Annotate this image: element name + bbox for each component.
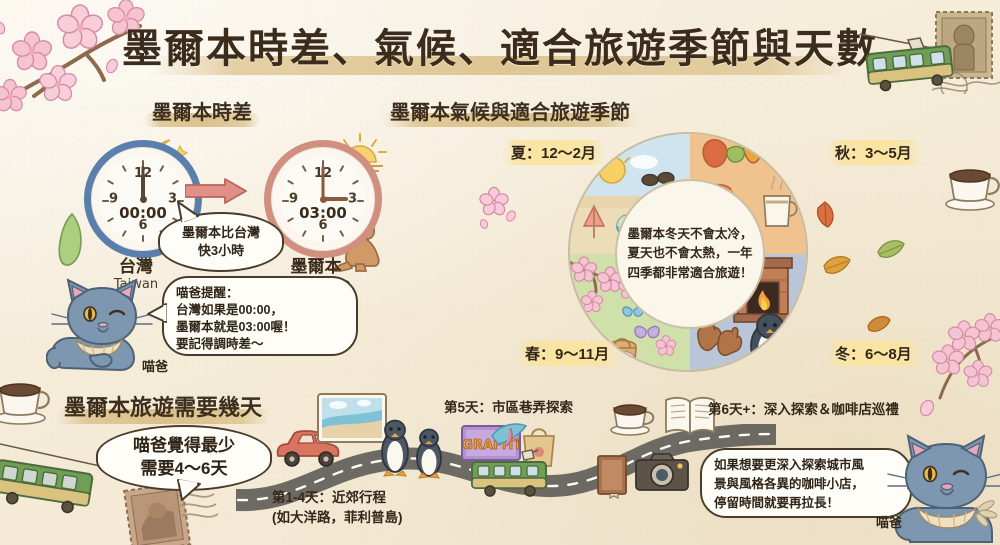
cat-reminder-line-4: 要記得調時差～ [176, 336, 344, 353]
penguin-icon [375, 414, 455, 480]
climate-heading-block: 墨爾本氣候與適合旅遊季節 [390, 96, 630, 125]
stop-caption-1: 第1-4天：近郊行程 (如大洋路，菲利普島) [272, 488, 403, 527]
season-ring: 墨爾本冬天不會太冷，夏天也不會太熱，一年四季都非常適合旅遊！ [568, 132, 808, 372]
season-ring-center: 墨爾本冬天不會太冷，夏天也不會太熱，一年四季都非常適合旅遊！ [615, 179, 765, 329]
season-label-autumn: 秋：3～5月 [826, 140, 921, 165]
cat-reminder-line-3: 墨爾本就是03:00喔！ [176, 319, 344, 336]
season-label-summer: 夏：12～2月 [502, 140, 605, 165]
melbourne-clock-time: 03:00 [280, 204, 366, 222]
cherry-blossom-branch-icon [924, 298, 1000, 408]
autumn-leaf-icon [866, 312, 892, 336]
autumn-leaf-icon [876, 236, 906, 262]
days-heading: 墨爾本旅遊需要幾天 [64, 395, 262, 420]
coffee-cup-icon [944, 158, 1000, 214]
cat-reminder-bubble: 喵爸提醒： 台灣如果是00:00， 墨爾本就是03:00喔！ 要記得調時差～ [162, 276, 358, 356]
bubble-tail-icon [146, 300, 168, 326]
autumn-leaf-icon [822, 252, 852, 278]
camera-icon [634, 450, 690, 494]
final-advice-bubble: 如果想要更深入探索城市風 景與風格各異的咖啡小店， 停留時間就要再拉長！ [700, 448, 912, 518]
tram-icon [468, 448, 560, 500]
ribbon-icon [490, 418, 530, 452]
climate-center-note: 墨爾本冬天不會太冷，夏天也不會太熱，一年四季都非常適合旅遊！ [617, 225, 763, 283]
stop-caption-2: 第5天：市區巷弄探索 [444, 398, 573, 418]
notebook-icon [592, 452, 632, 500]
timezone-heading-block: 墨爾本時差 [152, 96, 252, 125]
cherry-blossom-petal-icon [916, 396, 938, 420]
days-cat-bubble-line-1: 喵爸覺得最少 [133, 435, 235, 458]
bubble-tail-icon [176, 200, 202, 222]
stop-1-line-1: 第1-4天：近郊行程 [272, 488, 403, 508]
cat-reminder-line-1: 喵爸提醒： [176, 285, 344, 302]
clock-minute-hand [322, 166, 325, 199]
cherry-blossom-petal-icon [478, 186, 518, 230]
taiwan-clock-time: 00:00 [100, 204, 186, 222]
timezone-heading: 墨爾本時差 [152, 102, 252, 124]
clock-minute-hand [142, 166, 145, 199]
time-diff-line-1: 墨爾本比台灣 [182, 224, 260, 242]
cat-name-label-left: 喵爸 [142, 356, 168, 375]
page-title-block: 墨爾本時差、氣候、適合旅遊季節與天數 [0, 16, 1000, 74]
stop-1-line-2: (如大洋路，菲利普島) [272, 508, 403, 528]
page-title: 墨爾本時差、氣候、適合旅遊季節與天數 [0, 16, 1000, 74]
season-label-spring: 春：9～11月 [516, 341, 618, 366]
clock-pin [140, 196, 147, 203]
tram-icon [854, 24, 972, 96]
final-advice-line-1: 如果想要更深入探索城市風 [714, 456, 898, 475]
cat-avatar [46, 272, 156, 376]
autumn-leaf-icon [812, 200, 838, 230]
season-label-winter: 冬：6～8月 [826, 341, 921, 366]
bubble-tail-icon [176, 478, 204, 502]
clock-hour-hand [323, 197, 348, 201]
days-heading-block: 墨爾本旅遊需要幾天 [64, 390, 262, 422]
stop-3-line-1: 第6天+：深入探索＆咖啡店巡禮 [708, 400, 899, 420]
cat-name-label-right: 喵爸 [876, 512, 902, 531]
cat-reminder-line-2: 台灣如果是00:00， [176, 302, 344, 319]
time-diff-line-2: 快3小時 [198, 242, 244, 260]
final-advice-line-2: 景與風格各異的咖啡小店， [714, 475, 898, 494]
coffee-cup-icon [0, 372, 56, 428]
stop-caption-3: 第6天+：深入探索＆咖啡店巡禮 [708, 400, 899, 420]
stop-2-line-1: 第5天：市區巷弄探索 [444, 398, 573, 418]
climate-heading: 墨爾本氣候與適合旅遊季節 [390, 102, 630, 124]
infographic-canvas: 墨爾本時差、氣候、適合旅遊季節與天數 [0, 0, 1000, 545]
clock-pin [320, 196, 327, 203]
coffee-cup-icon [608, 396, 658, 438]
final-advice-line-3: 停留時間就要再拉長！ [714, 494, 898, 513]
